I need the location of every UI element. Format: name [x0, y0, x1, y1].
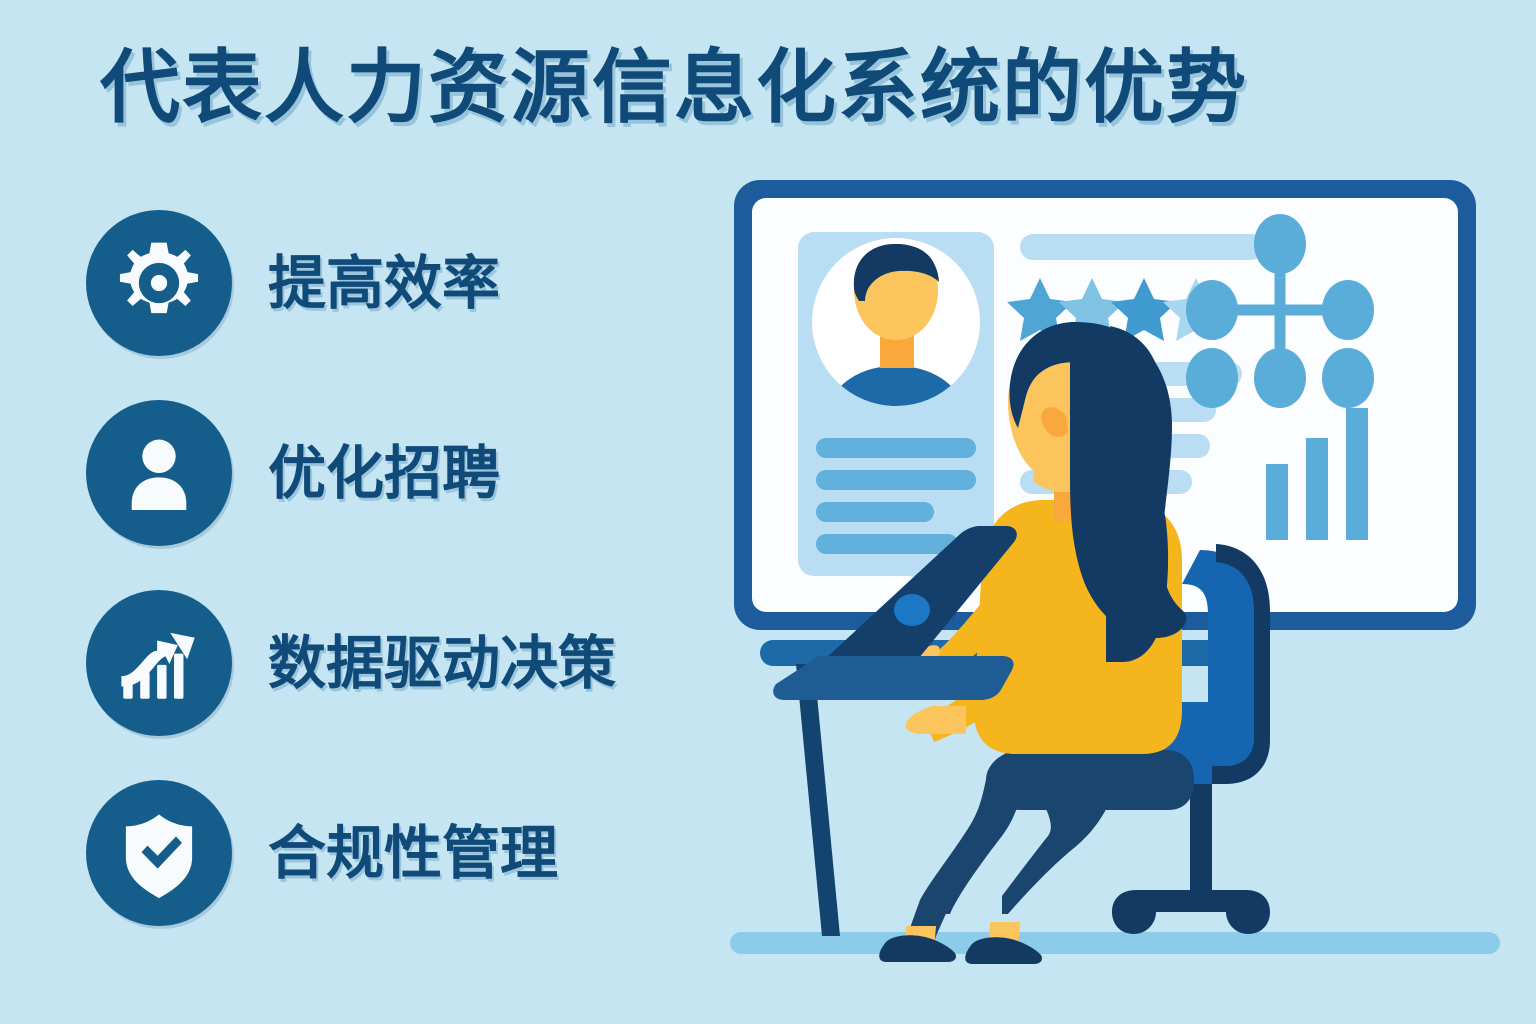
growth-chart-icon: [86, 590, 232, 736]
page-title: 代表人力资源信息化系统的优势: [100, 48, 1248, 128]
infographic-canvas: 代表人力资源信息化系统的优势 提高效率: [0, 0, 1536, 1024]
shield-check-icon: [86, 780, 232, 926]
feature-label: 合规性管理: [268, 824, 558, 882]
feature-item-recruiting[interactable]: 优化招聘: [86, 398, 706, 548]
person-icon: [86, 400, 232, 546]
feature-label: 优化招聘: [268, 444, 500, 502]
feature-item-efficiency[interactable]: 提高效率: [86, 208, 706, 358]
hr-dashboard-illustration: [720, 170, 1510, 980]
feature-item-data-driven[interactable]: 数据驱动决策: [86, 588, 706, 738]
floor-line: [730, 932, 1500, 954]
profile-card: [798, 232, 994, 576]
feature-list: 提高效率 优化招聘: [86, 208, 706, 968]
header-placeholder-bar: [1020, 234, 1264, 260]
feature-item-compliance[interactable]: 合规性管理: [86, 778, 706, 928]
feature-label: 数据驱动决策: [268, 634, 616, 692]
feature-label: 提高效率: [268, 254, 500, 312]
gear-icon: [86, 210, 232, 356]
